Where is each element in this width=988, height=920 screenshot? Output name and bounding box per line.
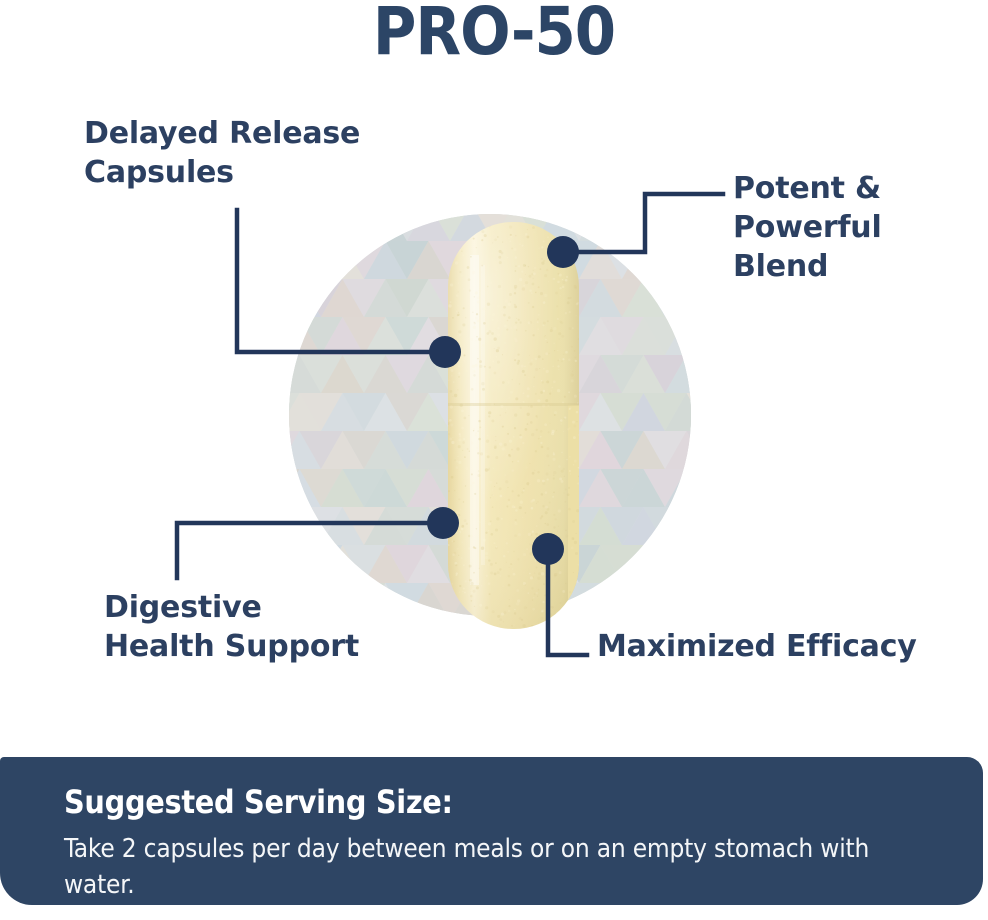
dot-maximized-efficacy	[532, 533, 564, 565]
callout-label-delayed-release: Delayed Release Capsules	[84, 114, 414, 192]
dot-delayed-release	[429, 336, 461, 368]
callout-dots	[427, 236, 579, 565]
dot-potent-blend	[547, 236, 579, 268]
callout-label-potent-blend: Potent & Powerful Blend	[733, 169, 983, 286]
serving-size-instructions: Take 2 capsules per day between meals or…	[64, 831, 944, 903]
connector-delayed-release	[237, 210, 445, 352]
connector-digestive-health	[177, 523, 443, 578]
callout-label-digestive-health: Digestive Health Support	[104, 588, 424, 666]
page-title: PRO-50	[0, 0, 988, 68]
capsule-image	[447, 222, 581, 629]
serving-size-heading: Suggested Serving Size:	[64, 783, 983, 821]
connector-potent-blend	[563, 194, 723, 252]
connector-maximized-efficacy	[548, 549, 587, 655]
infographic-canvas: PRO-50	[0, 0, 988, 920]
dot-digestive-health	[427, 507, 459, 539]
serving-size-banner: Suggested Serving Size: Take 2 capsules …	[0, 757, 983, 905]
callout-label-maximized-efficacy: Maximized Efficacy	[597, 627, 927, 666]
